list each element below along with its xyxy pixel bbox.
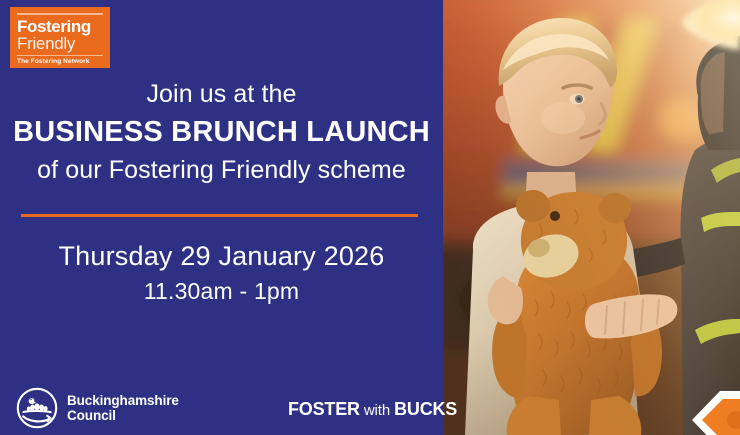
photo-illustration bbox=[443, 0, 740, 435]
buckinghamshire-council-logo: Buckinghamshire Council bbox=[16, 387, 179, 429]
foster-with-bucks-logo: FOSTERwithBUCKS bbox=[288, 399, 457, 420]
fwb-word-foster: FOSTER bbox=[288, 399, 360, 419]
orange-divider bbox=[21, 214, 418, 217]
fostering-friendly-logo: Fostering Friendly The Fostering Network bbox=[10, 7, 110, 68]
council-logo-text: Buckinghamshire Council bbox=[67, 393, 179, 424]
headline-line-3: of our Fostering Friendly scheme bbox=[0, 153, 443, 187]
headline-block: Join us at the BUSINESS BRUNCH LAUNCH of… bbox=[0, 78, 443, 187]
event-photo bbox=[443, 0, 740, 435]
fwb-word-with: with bbox=[364, 402, 390, 419]
headline-line-2: BUSINESS BRUNCH LAUNCH bbox=[0, 111, 443, 153]
headline-line-1: Join us at the bbox=[0, 78, 443, 111]
fwb-word-bucks: BUCKS bbox=[394, 399, 457, 419]
left-content-panel: Fostering Friendly The Fostering Network… bbox=[0, 0, 443, 435]
orange-corner-flash-icon bbox=[690, 389, 740, 435]
poster: Fostering Friendly The Fostering Network… bbox=[0, 0, 740, 435]
logo-rule-bottom bbox=[17, 55, 103, 57]
logo-rule-top bbox=[17, 13, 103, 15]
event-date: Thursday 29 January 2026 bbox=[0, 238, 443, 275]
swan-and-hills-roundel-icon bbox=[16, 387, 58, 429]
logo-strapline: The Fostering Network bbox=[17, 58, 103, 66]
logo-word-fostering: Fostering bbox=[17, 18, 103, 35]
event-details-block: Thursday 29 January 2026 11.30am - 1pm bbox=[0, 238, 443, 308]
logo-word-friendly: Friendly bbox=[17, 35, 103, 53]
council-line-2: Council bbox=[67, 408, 179, 424]
council-line-1: Buckinghamshire bbox=[67, 393, 179, 409]
event-time: 11.30am - 1pm bbox=[0, 275, 443, 308]
